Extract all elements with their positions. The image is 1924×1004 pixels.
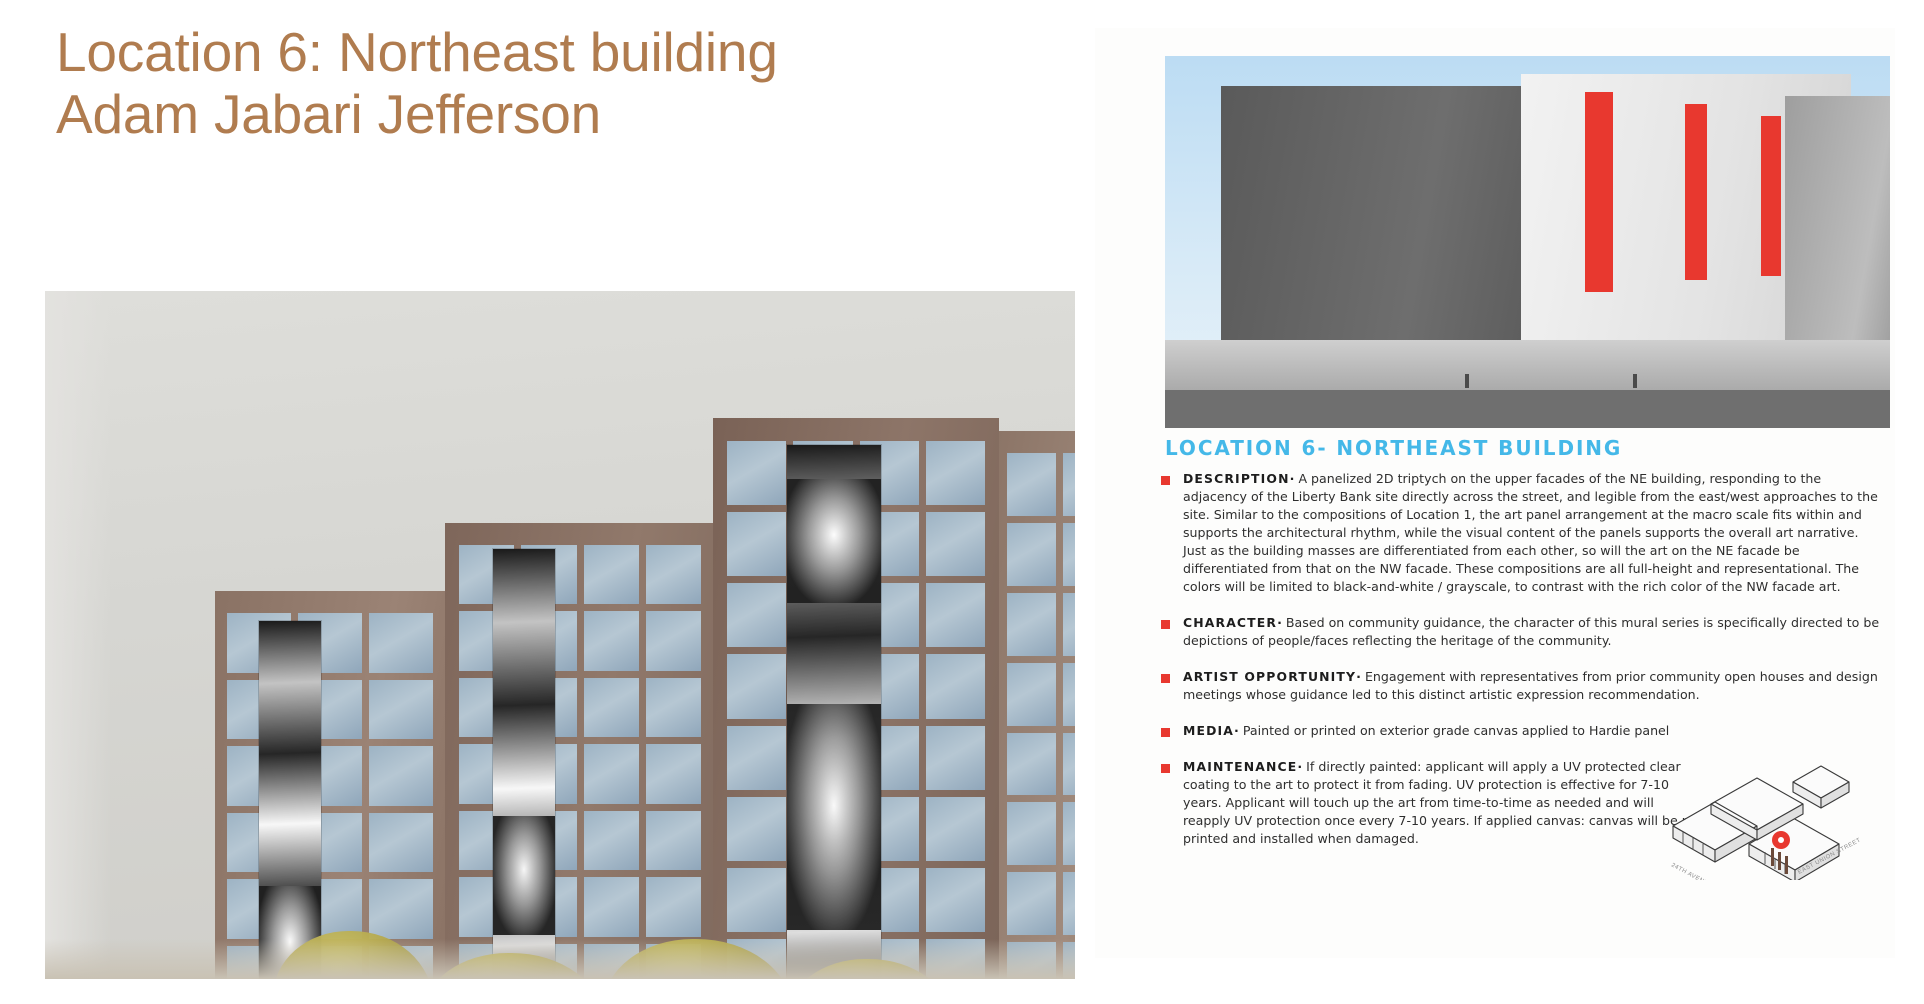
- mural-panel-2: [493, 549, 555, 979]
- title-line-2: Adam Jabari Jefferson: [56, 84, 1036, 146]
- section-text: Painted or printed on exterior grade can…: [1243, 723, 1669, 738]
- section-text: Based on community guidance, the charact…: [1183, 615, 1879, 648]
- bullet-square-icon: [1161, 620, 1170, 629]
- title-line-1: Location 6: Northeast building: [56, 22, 1036, 84]
- red-art-panel: [1685, 104, 1707, 280]
- mural-panel-3: [787, 445, 881, 979]
- section-body: MEDIA· Painted or printed on exterior gr…: [1183, 722, 1881, 740]
- section-label: ARTIST OPPORTUNITY: [1183, 669, 1356, 684]
- rendering-figure: [1633, 374, 1637, 388]
- section-text: A panelized 2D triptych on the upper fac…: [1183, 471, 1878, 594]
- section-media: MEDIA· Painted or printed on exterior gr…: [1161, 722, 1881, 740]
- section-label: CHARACTER: [1183, 615, 1277, 630]
- section-separator: ·: [1297, 759, 1302, 774]
- red-art-panel: [1585, 92, 1613, 292]
- window-grid-west: [227, 613, 433, 979]
- section-separator: ·: [1356, 669, 1361, 684]
- svg-text:24TH AVENUE: 24TH AVENUE: [1670, 862, 1713, 880]
- section-body: ARTIST OPPORTUNITY· Engagement with repr…: [1183, 668, 1881, 704]
- building-rendering-photo: [45, 291, 1075, 979]
- bullet-square-icon: [1161, 728, 1170, 737]
- section-label: DESCRIPTION: [1183, 471, 1290, 486]
- mural-panel-1: [259, 621, 321, 979]
- section-body: DESCRIPTION· A panelized 2D triptych on …: [1183, 470, 1881, 596]
- presentation-slide: Location 6: Northeast building Adam Jaba…: [0, 0, 1924, 1004]
- section-separator: ·: [1277, 615, 1282, 630]
- bullet-square-icon: [1161, 476, 1170, 485]
- bullet-square-icon: [1161, 674, 1170, 683]
- board-heading: LOCATION 6- NORTHEAST BUILDING: [1165, 436, 1622, 460]
- section-artist-opportunity: ARTIST OPPORTUNITY· Engagement with repr…: [1161, 668, 1881, 704]
- rendering-figure: [1465, 374, 1469, 388]
- section-label: MAINTENANCE: [1183, 759, 1297, 774]
- section-body: MAINTENANCE· If directly painted: applic…: [1183, 758, 1701, 848]
- rendering-podium: [1165, 340, 1890, 392]
- site-axonometric-diagram: 24TH AVENUE EAST UNION STREET: [1653, 748, 1865, 880]
- section-separator: ·: [1290, 471, 1295, 486]
- board-architectural-rendering: [1165, 56, 1890, 428]
- section-body: CHARACTER· Based on community guidance, …: [1183, 614, 1881, 650]
- red-art-panel: [1761, 116, 1781, 276]
- section-character: CHARACTER· Based on community guidance, …: [1161, 614, 1881, 650]
- rendering-right-mass: [1785, 96, 1890, 366]
- section-separator: ·: [1234, 723, 1239, 738]
- window-grid-corner: [1007, 453, 1075, 979]
- rendering-ground-plane: [1165, 390, 1890, 428]
- photo-bottom-fade: [45, 939, 1075, 979]
- section-description: DESCRIPTION· A panelized 2D triptych on …: [1161, 470, 1881, 596]
- design-board-panel: LOCATION 6- NORTHEAST BUILDING DESCRIPTI…: [1095, 28, 1895, 958]
- page-title: Location 6: Northeast building Adam Jaba…: [56, 22, 1036, 145]
- section-label: MEDIA: [1183, 723, 1234, 738]
- bullet-square-icon: [1161, 764, 1170, 773]
- photo-edge-highlight: [45, 291, 111, 979]
